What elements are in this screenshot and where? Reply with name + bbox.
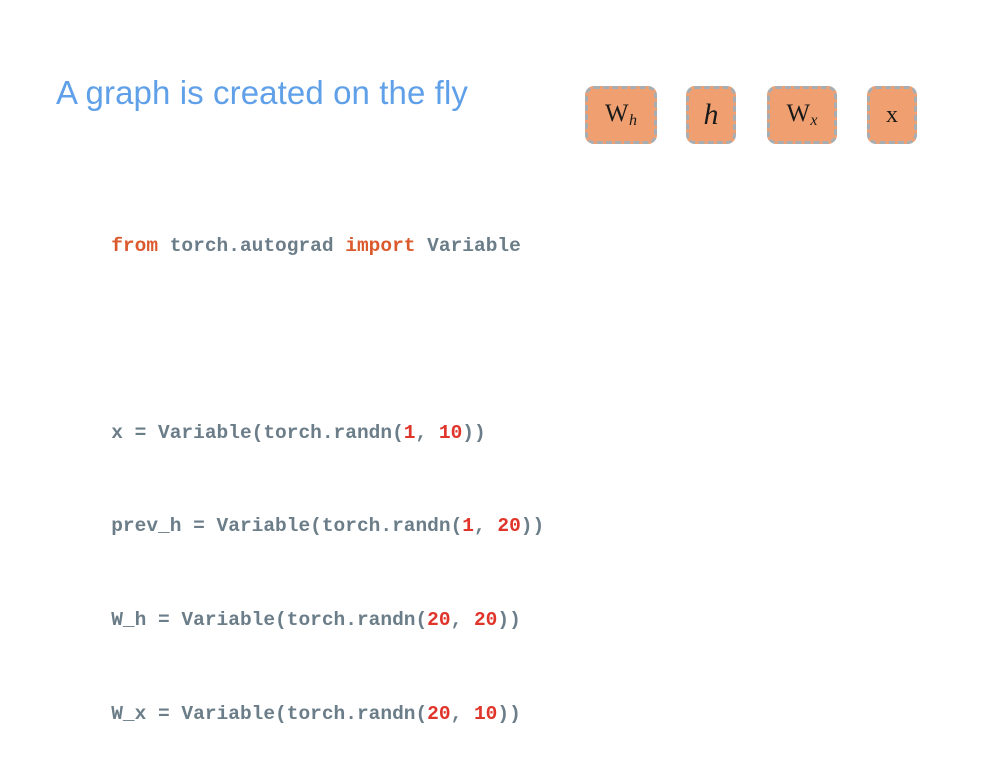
- code-token-text: )): [462, 422, 485, 444]
- code-token-text: )): [497, 609, 520, 631]
- graph-node-row: Wh h Wx x: [585, 86, 945, 148]
- graph-node-x[interactable]: x: [867, 86, 917, 144]
- code-line: prev_h = Variable(torch.randn(1, 20)): [41, 492, 544, 515]
- graph-node-label: Wx: [786, 101, 817, 130]
- graph-node-subscript: h: [629, 112, 637, 129]
- code-token-text: ,: [451, 609, 474, 631]
- code-token-text: ,: [451, 703, 474, 725]
- graph-node-label: h: [704, 100, 719, 130]
- code-token-text: x = Variable(torch.randn(: [111, 422, 404, 444]
- code-token-text: )): [497, 703, 520, 725]
- code-token-text: W_h = Variable(torch.randn(: [111, 609, 427, 631]
- code-token-number: 20: [427, 609, 450, 631]
- code-token-number: 10: [474, 703, 497, 725]
- code-token-text: torch.autograd: [158, 235, 345, 257]
- slide-canvas: A graph is created on the fly from torch…: [0, 0, 1000, 562]
- graph-node-base: W: [786, 100, 810, 127]
- code-token-text: W_x = Variable(torch.randn(: [111, 703, 427, 725]
- code-block: from torch.autograd import Variable x = …: [41, 141, 544, 773]
- code-token-text: ,: [474, 515, 497, 537]
- graph-node-label: x: [886, 103, 898, 127]
- code-token-keyword: from: [111, 235, 158, 257]
- code-token-number: 10: [439, 422, 462, 444]
- code-line: from torch.autograd import Variable: [41, 211, 544, 234]
- graph-node-subscript: x: [810, 112, 817, 129]
- code-token-text: )): [521, 515, 544, 537]
- graph-node-h[interactable]: h: [686, 86, 736, 144]
- code-line: x = Variable(torch.randn(1, 10)): [41, 398, 544, 421]
- code-token-text: ,: [415, 422, 438, 444]
- code-token-text: prev_h = Variable(torch.randn(: [111, 515, 462, 537]
- graph-node-label: Wh: [605, 101, 637, 130]
- code-token-number: 1: [404, 422, 416, 444]
- graph-node-w-x[interactable]: Wx: [767, 86, 837, 144]
- code-line: W_h = Variable(torch.randn(20, 20)): [41, 586, 544, 609]
- code-line-blank: [41, 305, 544, 328]
- code-token-number: 20: [474, 609, 497, 631]
- code-line: W_x = Variable(torch.randn(20, 10)): [41, 679, 544, 702]
- code-token-number: 20: [427, 703, 450, 725]
- page-title: A graph is created on the fly: [56, 73, 468, 113]
- graph-node-w-h[interactable]: Wh: [585, 86, 657, 144]
- graph-node-base: W: [605, 100, 629, 127]
- code-token-number: 1: [462, 515, 474, 537]
- code-token-keyword: import: [345, 235, 415, 257]
- code-token-text: Variable: [415, 235, 520, 257]
- code-token-number: 20: [497, 515, 520, 537]
